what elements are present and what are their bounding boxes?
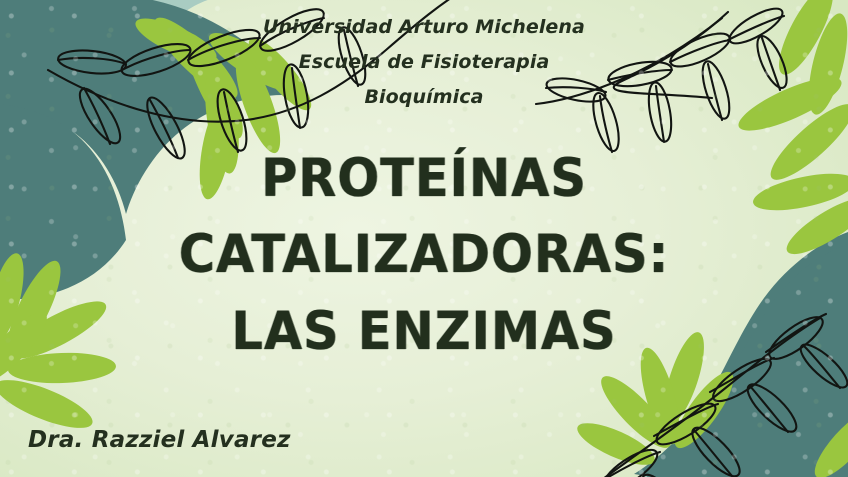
university-name: Universidad Arturo Michelena (263, 18, 585, 37)
school-name: Escuela de Fisioterapia (299, 53, 550, 72)
presentation-slide: Universidad Arturo Michelena Escuela de … (0, 0, 848, 477)
slide-text-block: Universidad Arturo Michelena Escuela de … (0, 0, 848, 477)
course-name: Bioquímica (364, 88, 483, 107)
slide-title: PROTEÍNAS CATALIZADORAS: LAS ENZIMAS (145, 141, 703, 370)
